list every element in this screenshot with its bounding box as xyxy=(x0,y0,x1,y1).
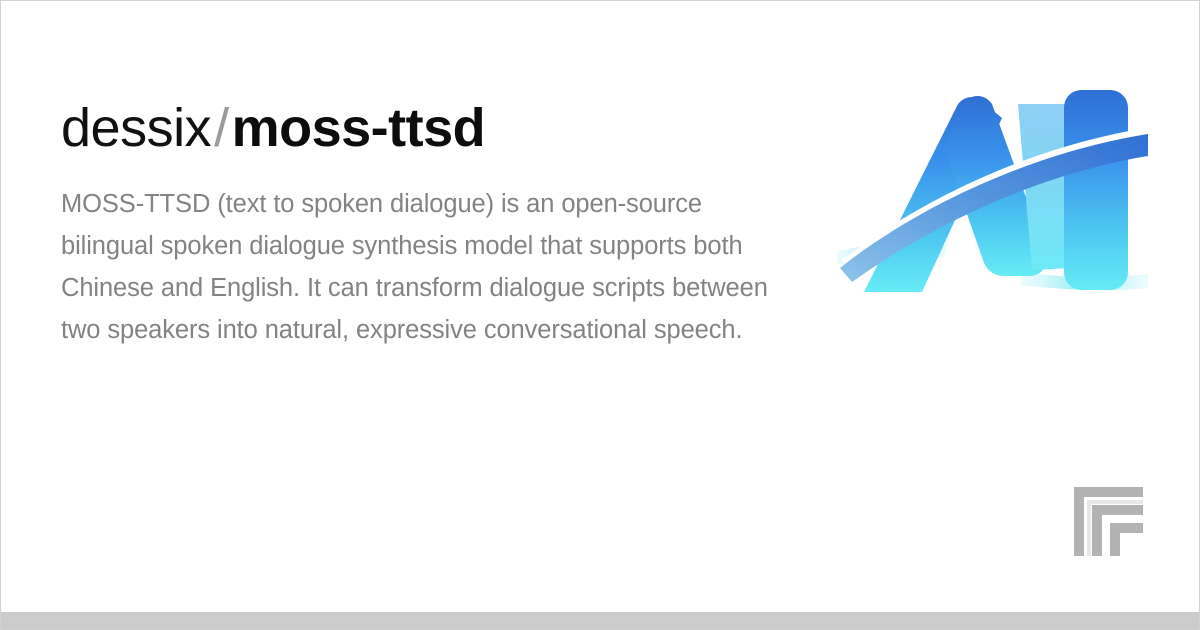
repo-separator: / xyxy=(211,98,232,158)
page-title: dessix/moss-ttsd xyxy=(61,97,791,159)
repo-name: moss-ttsd xyxy=(232,98,486,158)
repo-owner: dessix xyxy=(61,98,211,158)
repo-summary: dessix/moss-ttsd MOSS-TTSD (text to spok… xyxy=(61,97,791,351)
logo-m-right-stem xyxy=(1064,90,1128,290)
bottom-bar xyxy=(1,612,1199,629)
bracket-inner xyxy=(1110,523,1143,556)
modelscope-corner-brackets-icon xyxy=(1071,484,1145,558)
moss-m-logo xyxy=(826,56,1156,306)
og-card: dessix/moss-ttsd MOSS-TTSD (text to spok… xyxy=(0,0,1200,630)
repo-description: MOSS-TTSD (text to spoken dialogue) is a… xyxy=(61,183,781,351)
bracket-outer xyxy=(1074,487,1143,556)
